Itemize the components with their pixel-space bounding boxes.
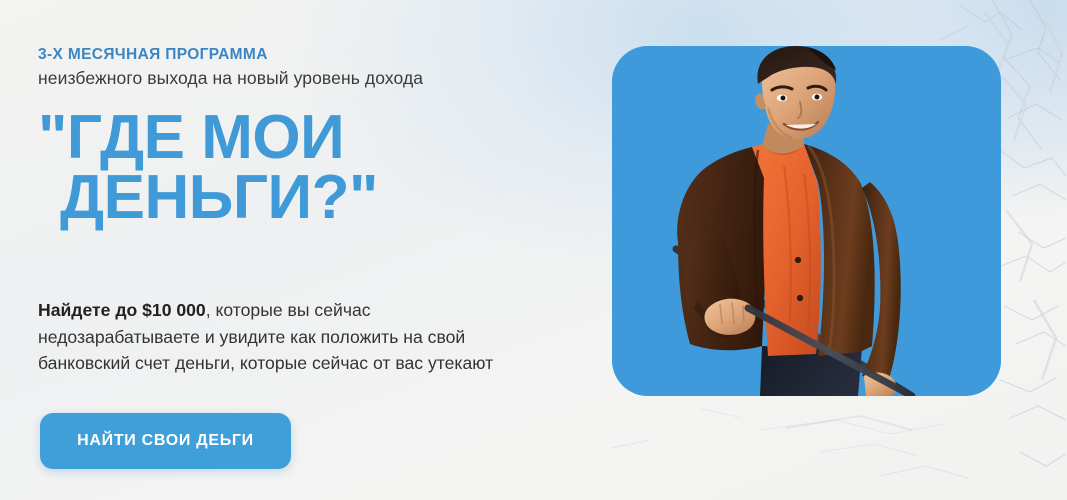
page-title: "ГДЕ МОИ ДЕНЬГИ?" (38, 108, 558, 228)
presenter-photo (612, 46, 1001, 396)
hero-section: 3-Х МЕСЯЧНАЯ ПРОГРАММА неизбежного выход… (0, 0, 1067, 500)
hero-body-highlight: Найдете до $10 000 (38, 300, 206, 320)
headline-line-1: "ГДЕ МОИ (38, 108, 558, 168)
hero-subeyebrow: неизбежного выхода на новый уровень дохо… (38, 68, 423, 89)
find-my-money-button[interactable]: НАЙТИ СВОИ ДЕЬГИ (40, 413, 291, 469)
hero-eyebrow: 3-Х МЕСЯЧНАЯ ПРОГРАММА (38, 46, 268, 64)
headline-line-2: ДЕНЬГИ?" (38, 168, 558, 228)
hero-photo-card (612, 46, 1001, 396)
hero-text-column: 3-Х МЕСЯЧНАЯ ПРОГРАММА неизбежного выход… (38, 0, 568, 500)
hero-body-copy: Найдете до $10 000, которые вы сейчас не… (38, 297, 508, 377)
